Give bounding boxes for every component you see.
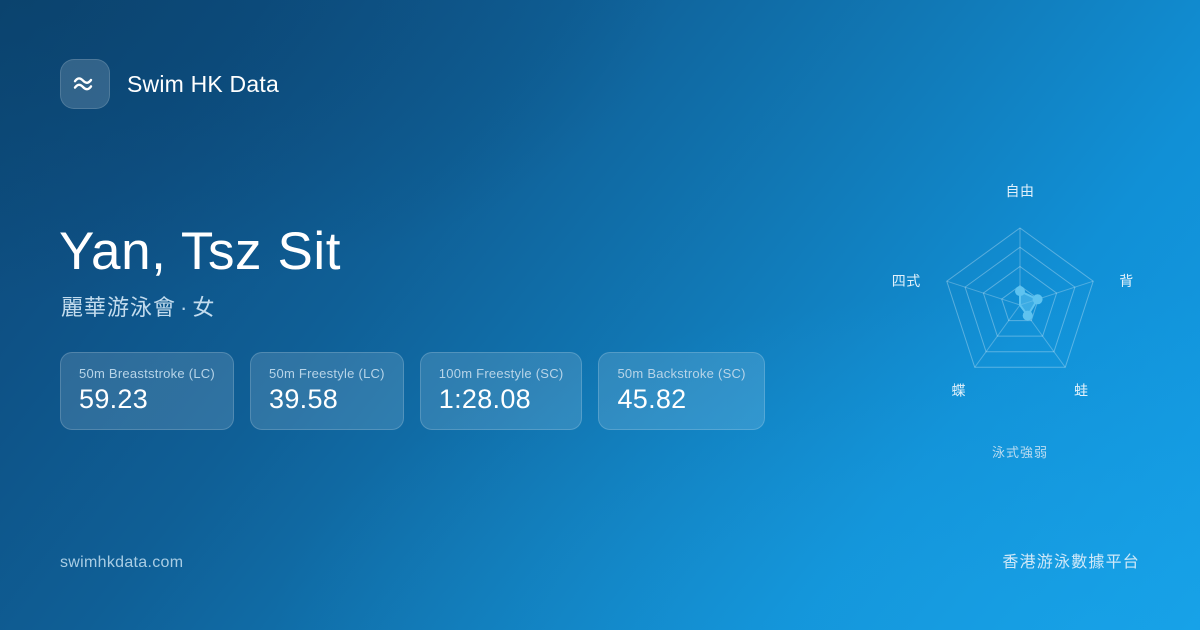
wave-approx-icon	[60, 59, 110, 109]
stat-card-value: 39.58	[269, 384, 385, 414]
stat-card-value: 45.82	[617, 384, 745, 414]
meta-separator: ·	[176, 295, 192, 320]
radar-axis-label: 蛙	[1074, 382, 1089, 398]
radar-axis-label: 四式	[892, 273, 921, 289]
radar-spoke	[947, 281, 1020, 305]
footer-site-url[interactable]: swimhkdata.com	[60, 554, 183, 572]
stat-card[interactable]: 100m Freestyle (SC) 1:28.08	[420, 352, 583, 430]
brand[interactable]: Swim HK Data	[60, 59, 279, 109]
radar-point	[1023, 311, 1033, 321]
stat-card-label: 100m Freestyle (SC)	[439, 366, 564, 381]
stroke-strength-radar-chart: 自由背蛙蝶四式 泳式強弱	[860, 170, 1180, 470]
stat-card-label: 50m Breaststroke (LC)	[79, 366, 215, 381]
stat-card[interactable]: 50m Breaststroke (LC) 59.23	[60, 352, 234, 430]
athlete-club: 麗華游泳會	[61, 295, 176, 320]
radar-caption: 泳式強弱	[860, 442, 1180, 461]
headline: Yan, Tsz Sit 麗華游泳會·女	[59, 222, 341, 322]
footer-tagline: 香港游泳數據平台	[1002, 548, 1140, 572]
radar-point	[1033, 294, 1043, 304]
radar-axis-label: 自由	[1006, 183, 1035, 199]
stat-card[interactable]: 50m Backstroke (SC) 45.82	[598, 352, 764, 430]
stat-card-value: 1:28.08	[439, 384, 564, 414]
page-title: Yan, Tsz Sit	[59, 222, 341, 281]
radar-axis-label: 背	[1119, 273, 1134, 289]
brand-name: Swim HK Data	[127, 71, 279, 98]
stat-card-label: 50m Freestyle (LC)	[269, 366, 385, 381]
social-card: Swim HK Data Yan, Tsz Sit 麗華游泳會·女 50m Br…	[0, 0, 1200, 630]
radar-point	[1015, 286, 1025, 296]
athlete-gender: 女	[192, 295, 215, 320]
radar-axis-label: 蝶	[951, 382, 966, 398]
athlete-meta: 麗華游泳會·女	[61, 290, 341, 322]
stat-card-row: 50m Breaststroke (LC) 59.23 50m Freestyl…	[60, 352, 765, 430]
radar-series	[1015, 286, 1043, 320]
stat-card-value: 59.23	[79, 384, 215, 414]
stat-card-label: 50m Backstroke (SC)	[617, 366, 745, 381]
stat-card[interactable]: 50m Freestyle (LC) 39.58	[250, 352, 404, 430]
